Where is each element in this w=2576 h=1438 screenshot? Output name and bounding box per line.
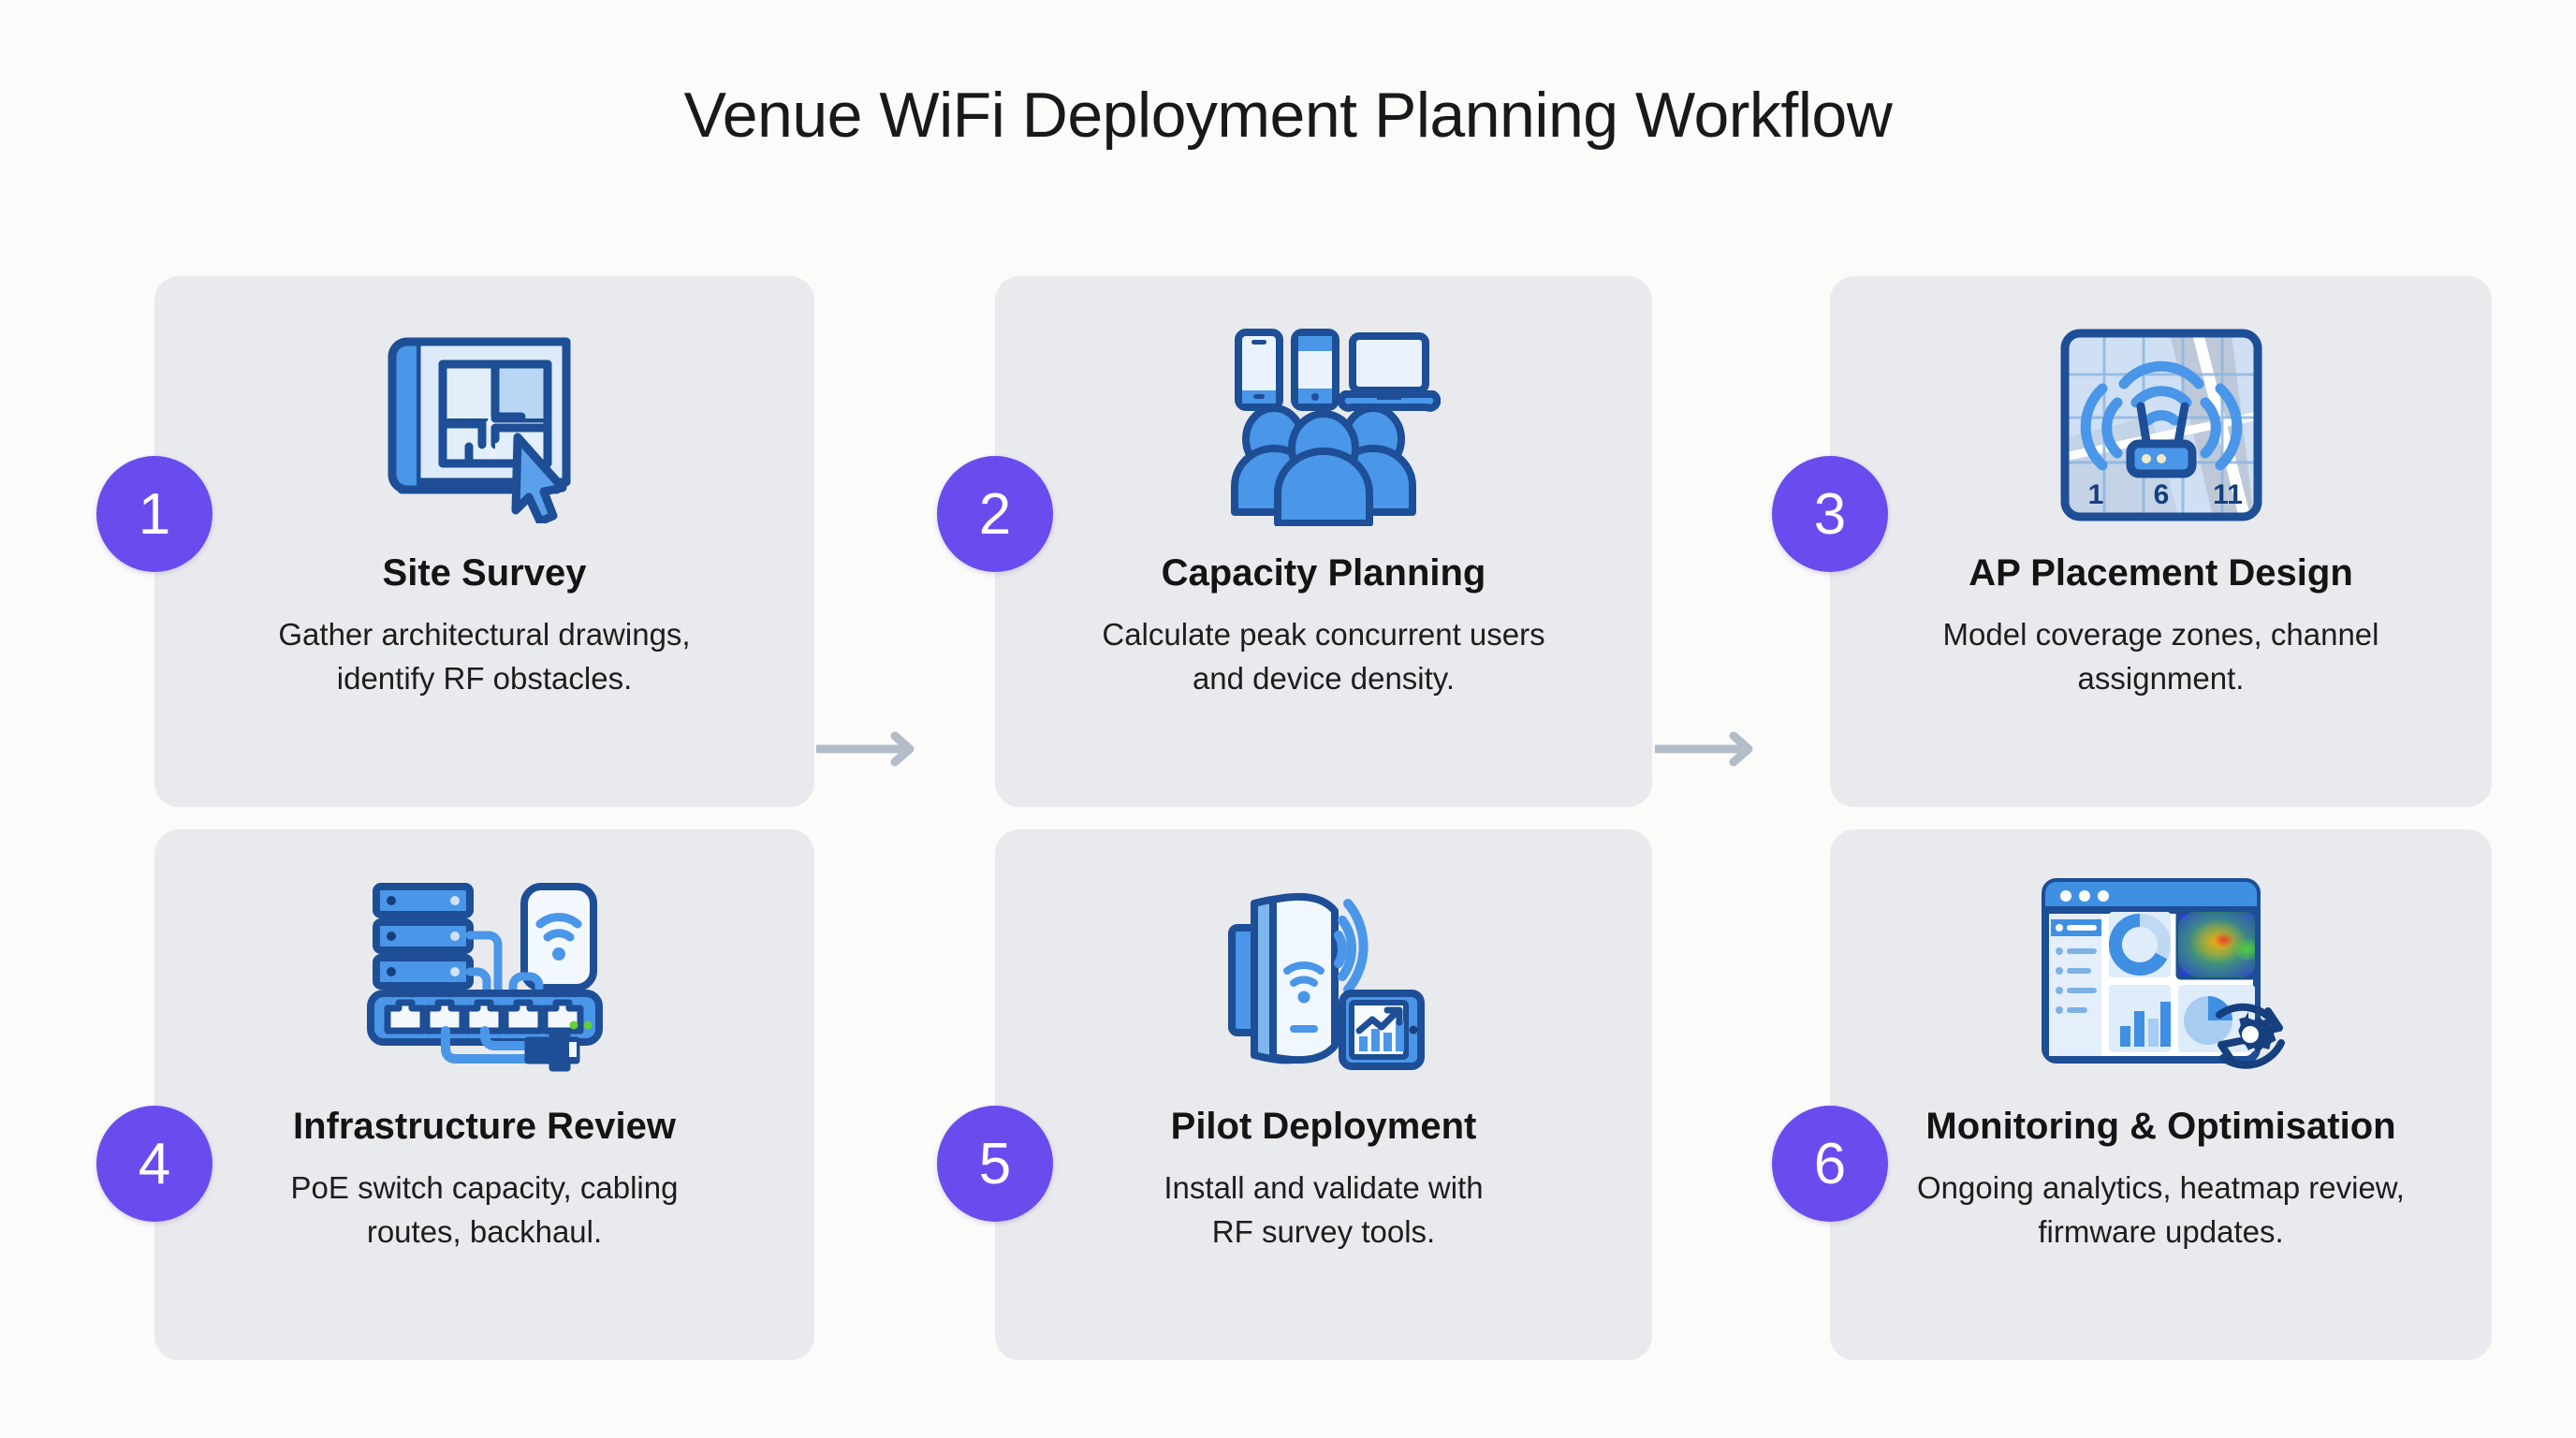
- step-badge-2: 2: [937, 456, 1053, 572]
- page-title: Venue WiFi Deployment Planning Workflow: [0, 79, 2576, 152]
- card-title: Pilot Deployment: [995, 1106, 1652, 1148]
- step-card-1[interactable]: Site Survey Gather architectural drawing…: [154, 276, 814, 807]
- dashboard-heatmap-gear-icon: [1830, 856, 2492, 1101]
- devices-and-users-group-icon: [995, 302, 1652, 548]
- step-card-2[interactable]: Capacity Planning Calculate peak concurr…: [995, 276, 1652, 807]
- step-badge-1: 1: [96, 456, 212, 572]
- card-description: Install and validate with RF survey tool…: [1019, 1167, 1628, 1255]
- card-title: AP Placement Design: [1830, 552, 2492, 594]
- step-card-3[interactable]: 1 6 11 AP Placement Design Model coverag…: [1830, 276, 2492, 807]
- arrow-step2-to-step3: [1655, 730, 1767, 768]
- steps-grid: Site Survey Gather architectural drawing…: [0, 276, 2576, 1360]
- card-title: Site Survey: [154, 552, 814, 594]
- channel-label-1: 1: [2087, 479, 2103, 510]
- channel-label-11: 11: [2213, 479, 2243, 510]
- card-description: Ongoing analytics, heatmap review, firmw…: [1854, 1167, 2467, 1255]
- steps-row-top: Site Survey Gather architectural drawing…: [0, 276, 2576, 807]
- card-title: Infrastructure Review: [154, 1106, 814, 1148]
- step-card-6[interactable]: Monitoring & Optimisation Ongoing analyt…: [1830, 829, 2492, 1360]
- blueprint-floorplan-cursor-icon: [154, 302, 814, 548]
- step-badge-6: 6: [1772, 1106, 1888, 1222]
- poe-switch-rack-icon: [154, 856, 814, 1101]
- step-badge-5: 5: [937, 1106, 1053, 1222]
- step-card-5[interactable]: Pilot Deployment Install and validate wi…: [995, 829, 1652, 1360]
- card-description: PoE switch capacity, cabling routes, bac…: [179, 1167, 790, 1255]
- channel-label-6: 6: [2153, 479, 2169, 510]
- step-badge-3: 3: [1772, 456, 1888, 572]
- router-coverage-map-icon: 1 6 11: [1830, 302, 2492, 548]
- card-description: Calculate peak concurrent users and devi…: [1019, 613, 1628, 701]
- workflow-infographic: Venue WiFi Deployment Planning Workflow: [0, 0, 2576, 1438]
- access-point-tablet-survey-icon: [995, 856, 1652, 1101]
- step-card-4[interactable]: Infrastructure Review PoE switch capacit…: [154, 829, 814, 1360]
- arrow-step1-to-step2: [816, 730, 929, 768]
- steps-row-bottom: Infrastructure Review PoE switch capacit…: [0, 829, 2576, 1360]
- card-description: Model coverage zones, channel assignment…: [1854, 613, 2467, 701]
- card-title: Monitoring & Optimisation: [1830, 1106, 2492, 1148]
- step-badge-4: 4: [96, 1106, 212, 1222]
- card-title: Capacity Planning: [995, 552, 1652, 594]
- card-description: Gather architectural drawings, identify …: [179, 613, 790, 701]
